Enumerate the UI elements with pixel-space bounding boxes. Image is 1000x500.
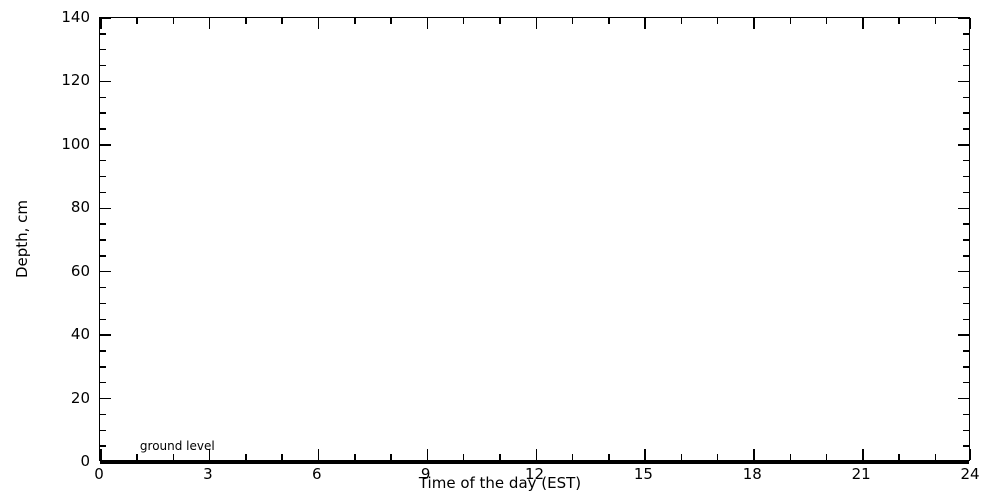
x-axis-minor-tick	[572, 454, 574, 460]
y-axis-minor-tick	[963, 97, 969, 99]
x-axis-major-tick	[209, 18, 211, 29]
y-axis-major-tick	[958, 461, 969, 463]
x-axis-major-tick	[100, 449, 102, 460]
x-axis-minor-tick	[390, 18, 392, 24]
y-axis-minor-tick	[963, 303, 969, 305]
y-axis-minor-tick	[963, 255, 969, 257]
y-axis-major-tick	[958, 271, 969, 273]
y-axis-minor-tick	[963, 430, 969, 432]
y-axis-minor-tick	[100, 303, 106, 305]
x-axis-minor-tick	[826, 18, 828, 24]
x-axis-tick-label: 21	[831, 467, 891, 482]
x-axis-major-tick	[970, 18, 972, 29]
x-axis-minor-tick	[463, 454, 465, 460]
x-axis-major-tick	[427, 18, 429, 29]
x-axis-major-tick	[862, 449, 864, 460]
y-axis-minor-tick	[963, 350, 969, 352]
y-axis-minor-tick	[100, 255, 106, 257]
x-axis-major-tick	[536, 18, 538, 29]
y-axis-major-tick	[958, 144, 969, 146]
y-axis-minor-tick	[963, 49, 969, 51]
y-axis-tick-label: 140	[30, 10, 90, 25]
y-axis-minor-tick	[100, 287, 106, 289]
y-axis-minor-tick	[963, 65, 969, 67]
x-axis-tick-label: 18	[722, 467, 782, 482]
y-axis-minor-tick	[963, 382, 969, 384]
y-axis-minor-tick	[100, 223, 106, 225]
x-axis-tick-label: 12	[505, 467, 565, 482]
x-axis-major-tick	[100, 18, 102, 29]
y-axis-minor-tick	[100, 366, 106, 368]
y-axis-minor-tick	[963, 239, 969, 241]
y-axis-title: Depth, cm	[13, 200, 31, 278]
y-axis-minor-tick	[100, 160, 106, 162]
y-axis-minor-tick	[963, 223, 969, 225]
x-axis-major-tick	[318, 18, 320, 29]
y-axis-major-tick	[100, 144, 111, 146]
x-axis-major-tick	[536, 449, 538, 460]
y-axis-minor-tick	[963, 128, 969, 130]
y-axis-minor-tick	[100, 319, 106, 321]
x-axis-minor-tick	[826, 454, 828, 460]
y-axis-minor-tick	[963, 287, 969, 289]
x-axis-minor-tick	[245, 18, 247, 24]
x-axis-minor-tick	[281, 454, 283, 460]
x-axis-minor-tick	[173, 18, 175, 24]
x-axis-minor-tick	[173, 454, 175, 460]
y-axis-major-tick	[958, 81, 969, 83]
ground-level-label: ground level	[140, 440, 215, 452]
y-axis-major-tick	[958, 398, 969, 400]
y-axis-minor-tick	[100, 382, 106, 384]
y-axis-minor-tick	[100, 239, 106, 241]
y-axis-minor-tick	[963, 414, 969, 416]
x-axis-minor-tick	[790, 454, 792, 460]
x-axis-major-tick	[644, 449, 646, 460]
y-axis-minor-tick	[963, 319, 969, 321]
y-axis-major-tick	[100, 208, 111, 210]
x-axis-minor-tick	[136, 454, 138, 460]
y-axis-minor-tick	[100, 97, 106, 99]
x-axis-tick-label: 15	[613, 467, 673, 482]
x-axis-minor-tick	[572, 18, 574, 24]
y-axis-major-tick	[100, 398, 111, 400]
x-axis-tick-label: 3	[178, 467, 238, 482]
y-axis-minor-tick	[100, 176, 106, 178]
x-axis-minor-tick	[717, 454, 719, 460]
y-axis-tick-label: 80	[30, 200, 90, 215]
x-axis-minor-tick	[245, 454, 247, 460]
x-axis-major-tick	[209, 449, 211, 460]
x-axis-minor-tick	[681, 18, 683, 24]
x-axis-minor-tick	[281, 18, 283, 24]
x-axis-minor-tick	[463, 18, 465, 24]
x-axis-minor-tick	[390, 454, 392, 460]
y-axis-minor-tick	[100, 414, 106, 416]
y-axis-minor-tick	[100, 112, 106, 114]
y-axis-major-tick	[100, 271, 111, 273]
y-axis-minor-tick	[963, 445, 969, 447]
y-axis-major-tick	[958, 17, 969, 19]
x-axis-major-tick	[970, 449, 972, 460]
x-axis-minor-tick	[790, 18, 792, 24]
x-axis-minor-tick	[935, 454, 937, 460]
x-axis-minor-tick	[136, 18, 138, 24]
x-axis-minor-tick	[935, 18, 937, 24]
y-axis-major-tick	[100, 334, 111, 336]
x-axis-major-tick	[644, 18, 646, 29]
x-axis-minor-tick	[499, 454, 501, 460]
y-axis-minor-tick	[963, 192, 969, 194]
x-axis-minor-tick	[608, 18, 610, 24]
x-axis-minor-tick	[898, 18, 900, 24]
y-axis-tick-label: 40	[30, 327, 90, 342]
y-axis-minor-tick	[963, 176, 969, 178]
x-axis-major-tick	[753, 449, 755, 460]
x-axis-minor-tick	[608, 454, 610, 460]
x-axis-major-tick	[318, 449, 320, 460]
y-axis-minor-tick	[963, 366, 969, 368]
y-axis-minor-tick	[100, 430, 106, 432]
y-axis-minor-tick	[963, 160, 969, 162]
x-axis-minor-tick	[354, 18, 356, 24]
x-axis-major-tick	[427, 449, 429, 460]
x-axis-tick-label: 6	[287, 467, 347, 482]
y-axis-major-tick	[100, 81, 111, 83]
y-axis-minor-tick	[963, 112, 969, 114]
y-axis-major-tick	[100, 461, 111, 463]
y-axis-minor-tick	[963, 33, 969, 35]
y-axis-minor-tick	[100, 445, 106, 447]
y-axis-major-tick	[958, 334, 969, 336]
y-axis-major-tick	[100, 17, 111, 19]
plot-area: ground level	[99, 17, 970, 461]
x-axis-tick-label: 0	[69, 467, 129, 482]
x-axis-minor-tick	[717, 18, 719, 24]
y-axis-tick-label: 20	[30, 391, 90, 406]
x-axis-major-tick	[753, 18, 755, 29]
x-axis-tick-label: 9	[396, 467, 456, 482]
y-axis-minor-tick	[100, 33, 106, 35]
x-axis-minor-tick	[499, 18, 501, 24]
x-axis-major-tick	[862, 18, 864, 29]
x-axis-minor-tick	[681, 454, 683, 460]
y-axis-major-tick	[958, 208, 969, 210]
y-axis-tick-label: 60	[30, 264, 90, 279]
ground-level-line	[100, 460, 969, 464]
y-axis-minor-tick	[100, 128, 106, 130]
y-axis-tick-label: 100	[30, 137, 90, 152]
x-axis-minor-tick	[898, 454, 900, 460]
x-axis-minor-tick	[354, 454, 356, 460]
y-axis-minor-tick	[100, 350, 106, 352]
y-axis-minor-tick	[100, 49, 106, 51]
x-axis-tick-label: 24	[940, 467, 1000, 482]
y-axis-minor-tick	[100, 192, 106, 194]
y-axis-minor-tick	[100, 65, 106, 67]
y-axis-tick-label: 120	[30, 73, 90, 88]
